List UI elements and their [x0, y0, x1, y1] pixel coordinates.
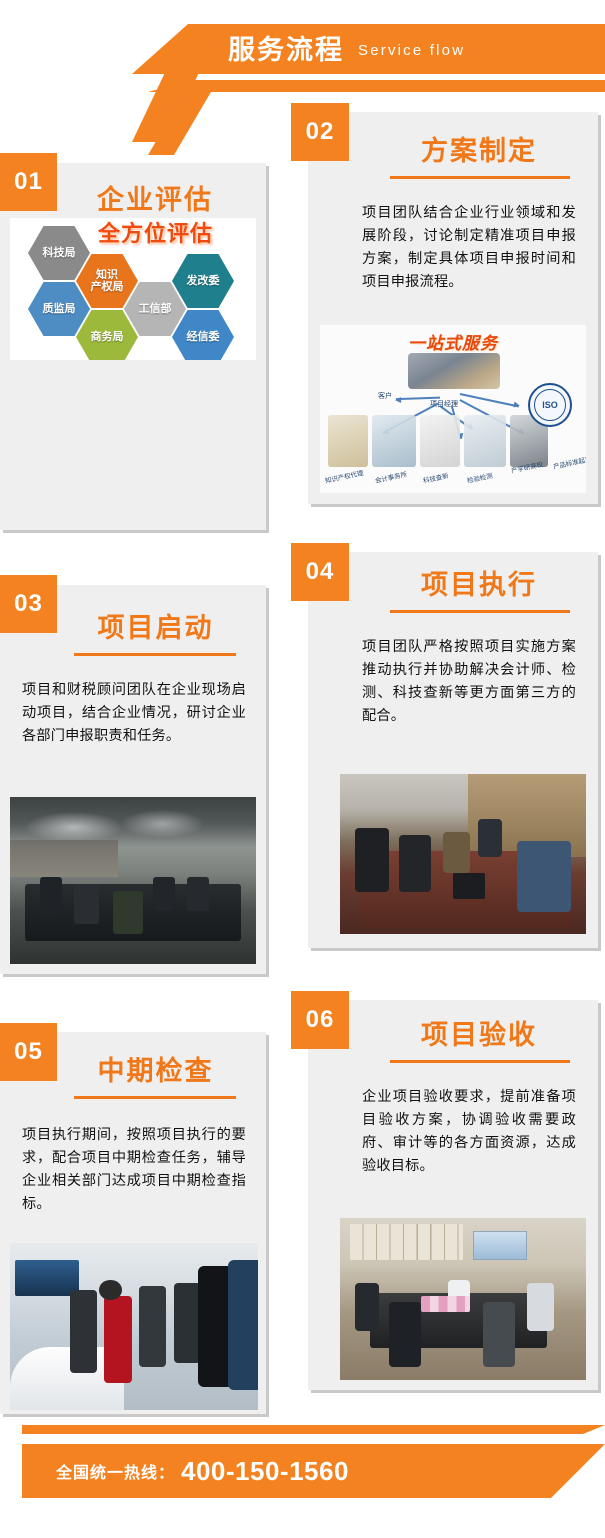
title-underline-06 — [390, 1060, 570, 1063]
step-title-04: 项目执行 — [374, 572, 584, 599]
one-stop-node-1 — [372, 415, 416, 467]
title-underline-04 — [390, 610, 570, 613]
hex-node-label: 商务局 — [91, 331, 124, 343]
step-title-03: 项目启动 — [58, 615, 253, 642]
one-stop-node-label-5: 产品标准起草 — [552, 453, 586, 471]
hex-node-label: 经信委 — [187, 331, 220, 343]
photo-meeting-room — [10, 797, 256, 964]
iso-seal-icon: ISO — [528, 383, 572, 427]
one-stop-node-label-0: 知识产权代理 — [324, 467, 364, 485]
photo-person — [139, 1286, 166, 1366]
one-stop-node-0 — [328, 415, 368, 467]
hex-diagram: 全方位评估 科技局 知识产权局 质监局 商务局 工信部 发改委 经信委 — [10, 218, 256, 360]
hex-node-2: 质监局 — [28, 282, 90, 336]
hex-node-4: 工信部 — [124, 282, 186, 336]
photo-person — [399, 835, 431, 893]
step-body-05: 项目执行期间，按照项目执行的要求，配合项目中期检查任务，辅导企业相关部门达成项目… — [22, 1124, 246, 1216]
hex-node-1: 知识产权局 — [76, 254, 138, 308]
photo-person — [40, 877, 62, 914]
photo-person — [174, 1283, 201, 1363]
one-stop-node-label-3: 检验检测 — [466, 470, 494, 485]
hex-node-6: 经信委 — [172, 310, 234, 360]
page-header: 服务流程 Service flow — [0, 0, 605, 112]
step-number-badge-04: 04 — [291, 543, 349, 601]
page-subtitle: Service flow — [358, 43, 465, 58]
step-number-badge-02: 02 — [291, 103, 349, 161]
hex-diagram-title: 全方位评估 — [98, 224, 253, 246]
one-stop-hub-photo — [408, 353, 500, 389]
photo-person — [527, 1283, 554, 1332]
photo-showroom-visit — [10, 1243, 258, 1410]
iso-seal-text: ISO — [542, 400, 558, 410]
one-stop-node-3 — [464, 415, 506, 467]
hex-node-label: 发改委 — [187, 275, 220, 287]
hex-node-label: 知识产权局 — [91, 269, 124, 293]
photo-flowers — [421, 1296, 470, 1312]
step-body-02: 项目团队结合企业行业领域和发展阶段，讨论制定精准项目申报方案，制定具体项目申报时… — [362, 202, 576, 294]
step-number-badge-05: 05 — [0, 1023, 57, 1081]
hex-node-5: 发改委 — [172, 254, 234, 308]
photo-person — [478, 819, 503, 857]
photo-person-head — [99, 1280, 121, 1300]
photo-conference-table — [340, 774, 586, 934]
one-stop-node-label-2: 科技查新 — [422, 470, 450, 485]
photo-person — [443, 832, 470, 874]
step-body-04: 项目团队严格按照项目实施方案推动执行并协助解决会计师、检测、科技查新等更方面第三… — [362, 636, 576, 728]
photo-person — [389, 1302, 421, 1367]
title-underline-05 — [74, 1096, 236, 1099]
footer-accent-rule — [22, 1425, 605, 1434]
photo-acceptance-meeting — [340, 1218, 586, 1380]
hex-node-0: 科技局 — [28, 226, 90, 280]
footer-hotline-group: 全国统一热线： 400-150-1560 — [56, 1444, 349, 1498]
hex-node-label: 质监局 — [43, 303, 76, 315]
photo-person — [187, 877, 209, 910]
photo-person-red-coat — [104, 1296, 131, 1383]
step-title-06: 项目验收 — [374, 1022, 584, 1049]
photo-person — [355, 1283, 380, 1332]
hotline-label: 全国统一热线： — [56, 1459, 175, 1483]
photo-person — [228, 1260, 258, 1390]
photo-person — [517, 841, 571, 911]
photo-certificates-wall — [350, 1224, 463, 1260]
photo-person — [113, 891, 143, 934]
one-stop-title: 一站式服务 — [408, 329, 498, 354]
photo-laptop — [453, 873, 485, 899]
one-stop-node-label-1: 会计事务所 — [374, 468, 408, 485]
step-title-01: 企业评估 — [60, 187, 250, 214]
step-number-badge-06: 06 — [291, 991, 349, 1049]
one-stop-node-2 — [420, 415, 460, 467]
photo-person — [483, 1302, 515, 1367]
header-title-group: 服务流程 Service flow — [228, 28, 465, 72]
header-banner-secondary — [148, 80, 605, 92]
page-title: 服务流程 — [228, 37, 344, 64]
step-body-06: 企业项目验收要求，提前准备项目验收方案，协调验收需要政府、审计等的各方面资源，达… — [362, 1086, 576, 1178]
photo-wall-texture — [10, 840, 118, 877]
photo-person — [74, 884, 99, 924]
photo-person — [153, 877, 175, 910]
hex-node-3: 商务局 — [76, 310, 138, 360]
one-stop-service-diagram: 一站式服务 客户 项目经理 ISO 知识产权代理 会计事务所 科技查新 检验检测… — [320, 325, 586, 493]
step-number-badge-01: 01 — [0, 153, 57, 211]
photo-projector-screen — [473, 1231, 527, 1260]
step-body-03: 项目和财税顾问团队在企业现场启动项目，结合企业情况，研讨企业各部门申报职责和任务… — [22, 679, 246, 748]
photo-person — [355, 828, 389, 892]
hex-node-label: 工信部 — [139, 303, 172, 315]
step-number-badge-03: 03 — [0, 575, 57, 633]
title-underline-02 — [390, 176, 570, 179]
hex-node-label: 科技局 — [43, 247, 76, 259]
step-title-05: 中期检查 — [58, 1058, 253, 1085]
title-underline-03 — [74, 653, 236, 656]
hotline-number[interactable]: 400-150-1560 — [181, 1456, 349, 1487]
step-title-02: 方案制定 — [374, 138, 584, 165]
one-stop-hub-label-customer: 客户 — [378, 391, 392, 401]
photo-person — [70, 1290, 97, 1374]
